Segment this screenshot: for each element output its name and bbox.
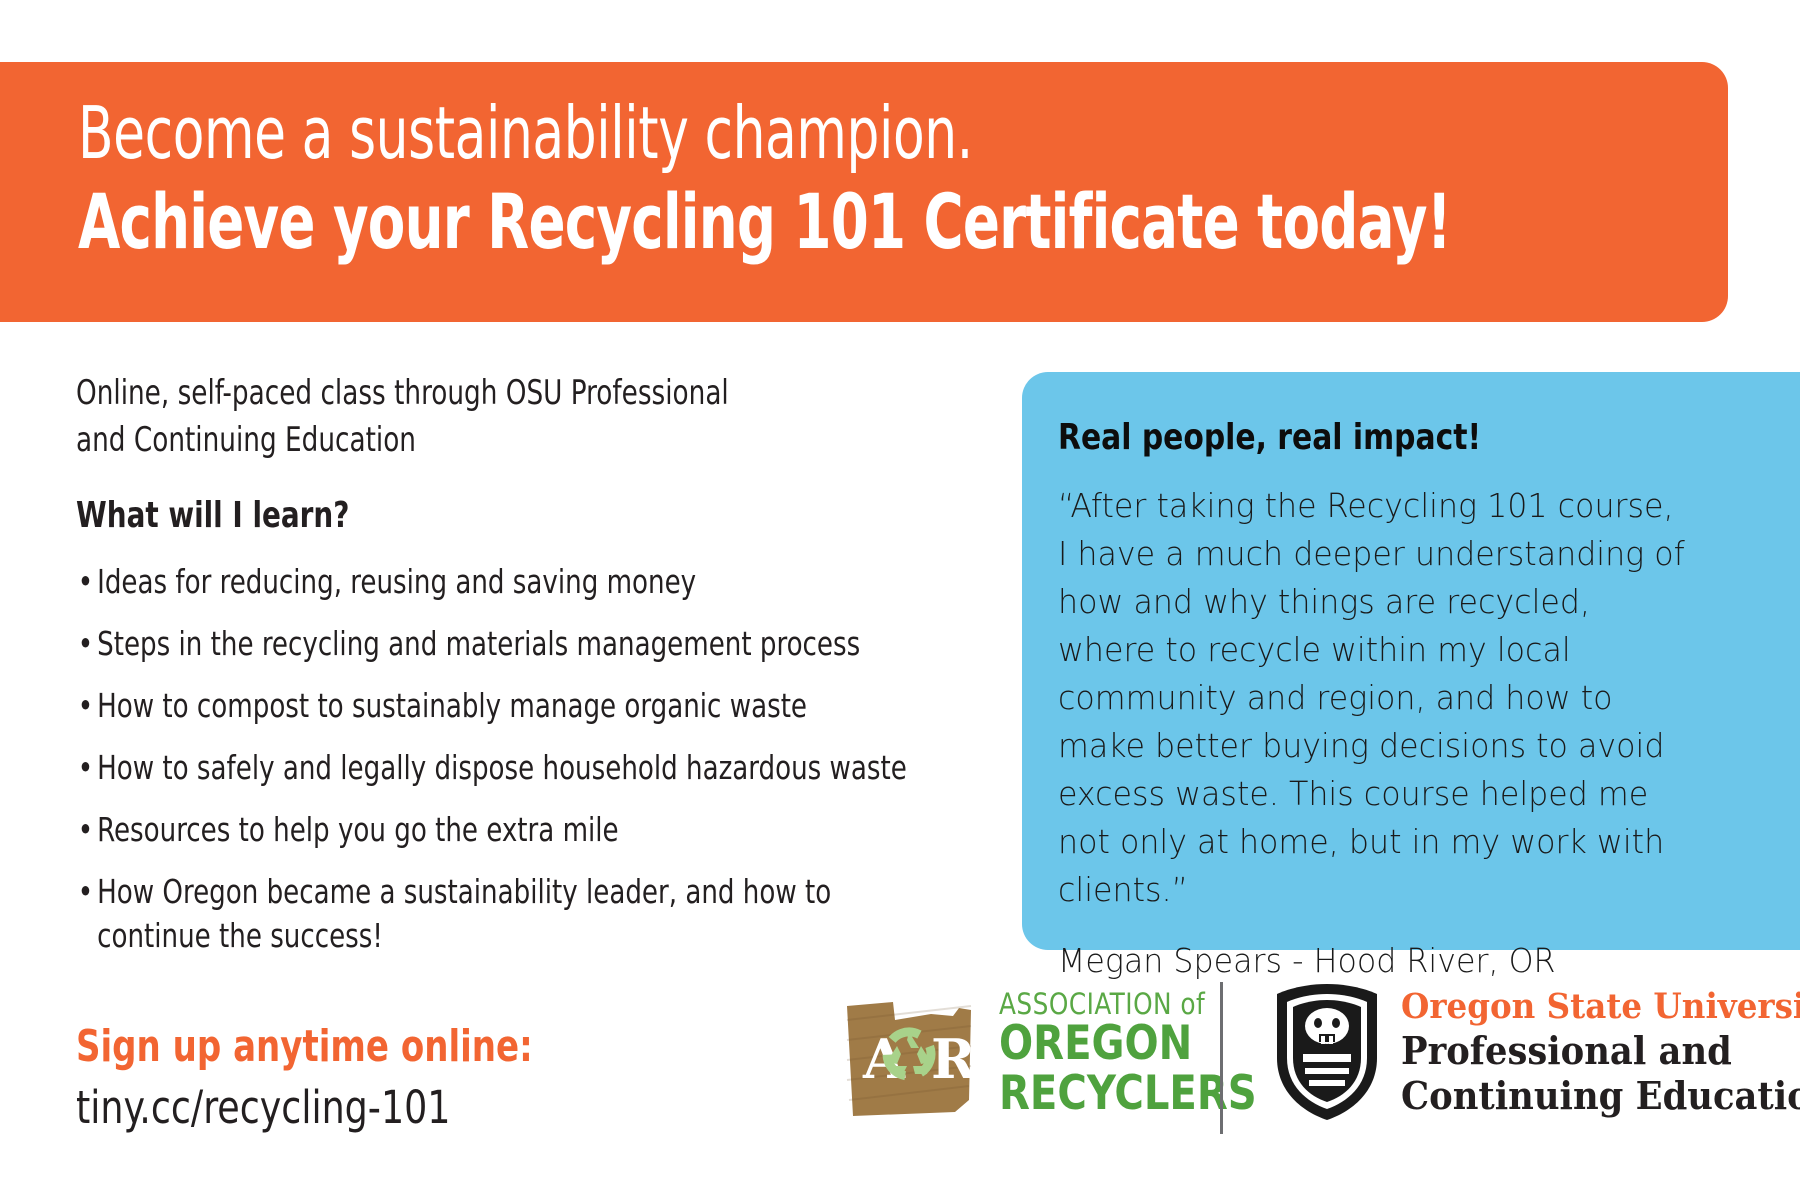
list-item-text: How Oregon became a sustainability leade… [97,872,831,911]
bullet-icon: • [78,808,93,852]
left-content-column: Online, self-paced class through OSU Pro… [76,370,896,976]
list-item: • How to compost to sustainably manage o… [76,684,798,728]
aor-line-3: RECYCLERS [999,1069,1257,1119]
osu-line-2: Professional and [1401,1028,1800,1073]
aor-line-1: ASSOCIATION of [999,990,1257,1019]
header-subtitle: Become a sustainability champion. [78,90,1398,176]
bullet-icon: • [78,746,93,790]
list-item-text: Ideas for reducing, reusing and saving m… [97,562,696,601]
logo-divider [1220,982,1223,1134]
list-item: • How to safely and legally dispose hous… [76,746,798,790]
aor-line-2: OREGON [999,1019,1257,1069]
list-item-text: Resources to help you go the extra mile [97,810,619,849]
list-item-text: How to safely and legally dispose househ… [97,748,907,787]
intro-line-1: Online, self-paced class through OSU Pro… [76,370,781,417]
aor-wordmark: ASSOCIATION of OREGON RECYCLERS [999,990,1270,1119]
osu-line-1: Oregon State University [1401,986,1800,1028]
list-item: • Steps in the recycling and materials m… [76,622,798,666]
learn-subheading: What will I learn? [76,494,781,538]
bullet-icon: • [78,560,93,604]
learning-outcomes-list: • Ideas for reducing, reusing and saving… [76,560,896,958]
testimonial-heading: Real people, real impact! [1058,416,1695,460]
bullet-icon: • [78,622,93,666]
bullet-icon: • [78,684,93,728]
flyer-page: Become a sustainability champion. Achiev… [0,0,1800,1200]
list-item-text-continued: continue the success! [97,914,797,958]
osu-wordmark: Oregon State University Professional and… [1401,986,1800,1118]
signup-block: Sign up anytime online: tiny.cc/recyclin… [76,1020,607,1136]
header-banner: Become a sustainability champion. Achiev… [0,62,1728,322]
signup-headline: Sign up anytime online: [76,1020,533,1074]
bullet-icon: • [78,870,93,914]
logo-row: A R ASSOCIATION of OREGON RECYCLERS [835,980,1765,1170]
osu-line-3: Continuing Education [1401,1073,1800,1118]
list-item: • Ideas for reducing, reusing and saving… [76,560,798,604]
svg-text:R: R [931,1027,977,1091]
oregon-state-shape-icon: A R [835,980,983,1128]
list-item-text: Steps in the recycling and materials man… [97,624,860,663]
signup-url-link[interactable]: tiny.cc/recycling-101 [76,1080,554,1136]
testimonial-quote: “After taking the Recycling 101 course, … [1058,482,1692,914]
list-item-text: How to compost to sustainably manage org… [97,686,807,725]
osu-logo: Oregon State University Professional and… [1267,980,1800,1124]
aor-logo: A R ASSOCIATION of OREGON RECYCLERS [835,980,1270,1128]
intro-line-2: and Continuing Education [76,417,781,464]
header-title: Achieve your Recycling 101 Certificate t… [78,176,1398,268]
osu-beaver-shield-icon [1267,980,1387,1124]
list-item: • Resources to help you go the extra mil… [76,808,798,852]
list-item: • How Oregon became a sustainability lea… [76,870,798,958]
testimonial-author: Megan Spears - Hood River, OR [1058,940,1722,982]
testimonial-panel: Real people, real impact! “After taking … [1022,372,1800,950]
